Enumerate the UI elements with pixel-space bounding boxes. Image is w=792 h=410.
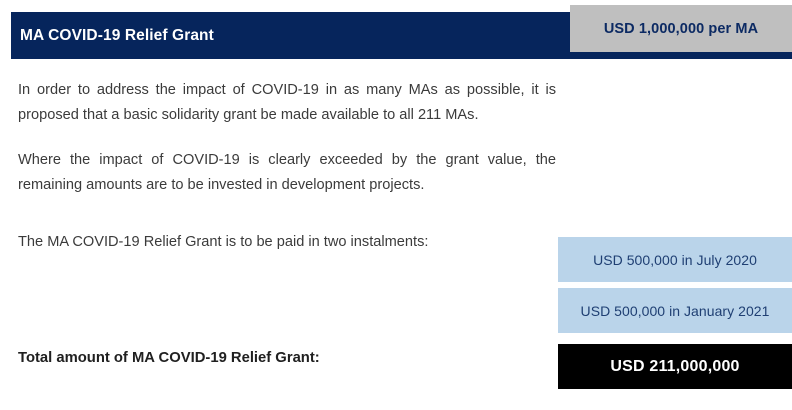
- instalment-box-first: USD 500,000 in July 2020: [558, 237, 792, 282]
- total-amount-value: USD 211,000,000: [558, 344, 792, 389]
- paragraph-solidarity-grant: In order to address the impact of COVID-…: [18, 78, 556, 128]
- slide-canvas: MA COVID-19 Relief Grant USD 1,000,000 p…: [0, 0, 792, 410]
- paragraph-instalments-intro: The MA COVID-19 Relief Grant is to be pa…: [18, 230, 556, 255]
- body-text-column: In order to address the impact of COVID-…: [18, 78, 556, 255]
- total-amount-label: Total amount of MA COVID-19 Relief Grant…: [18, 350, 320, 366]
- page-title: MA COVID-19 Relief Grant: [20, 12, 214, 59]
- instalment-box-second: USD 500,000 in January 2021: [558, 288, 792, 333]
- paragraph-spacer: [18, 218, 556, 230]
- grant-amount-badge: USD 1,000,000 per MA: [570, 5, 792, 52]
- paragraph-excess-amounts: Where the impact of COVID-19 is clearly …: [18, 148, 556, 198]
